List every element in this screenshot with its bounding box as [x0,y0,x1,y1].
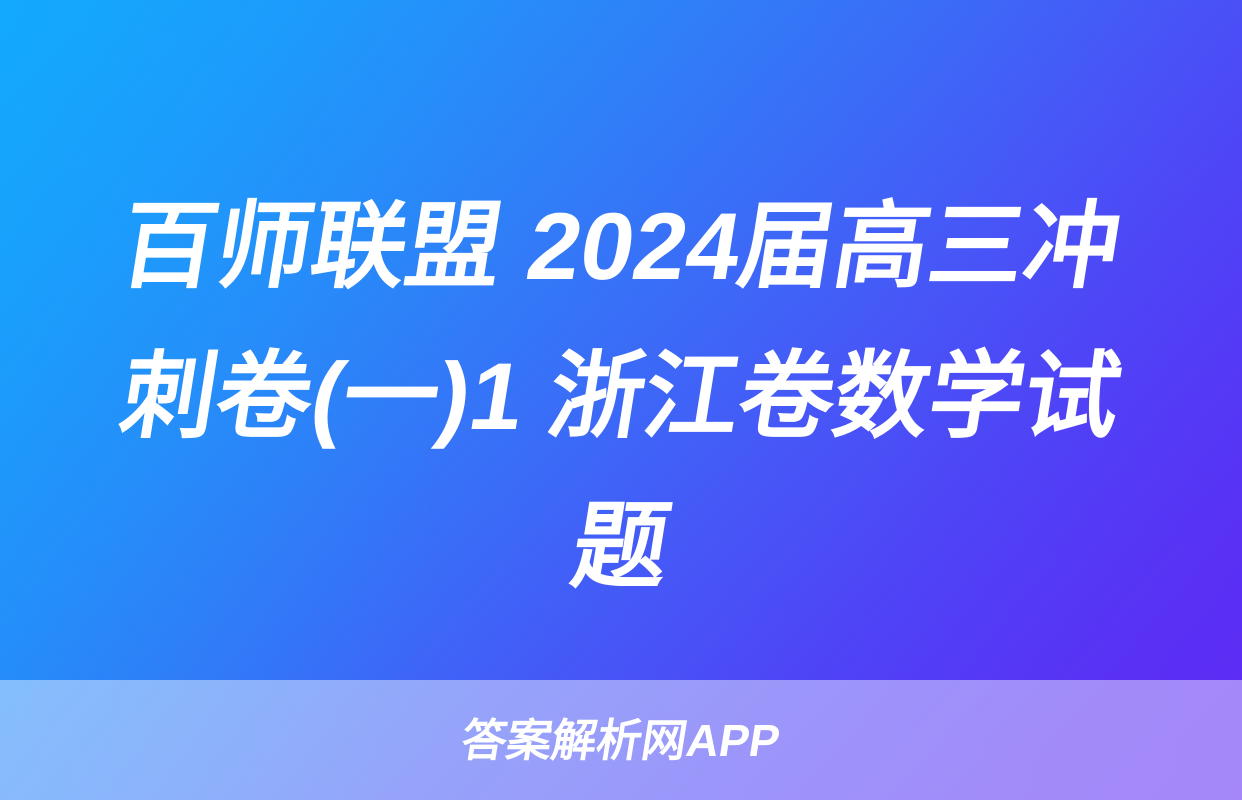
title-line-3: 题 [48,472,1194,622]
footer-brand-band: 答案解析网APP [0,680,1242,800]
title-line-2: 刺卷(一)1 浙江卷数学试 [48,322,1194,472]
page-title: 百师联盟 2024届高三冲 刺卷(一)1 浙江卷数学试 题 [0,172,1242,622]
footer-brand-label: 答案解析网APP [459,718,784,763]
title-line-1: 百师联盟 2024届高三冲 [48,172,1194,322]
poster-root: 百师联盟 2024届高三冲 刺卷(一)1 浙江卷数学试 题 答案解析网APP [0,0,1242,800]
